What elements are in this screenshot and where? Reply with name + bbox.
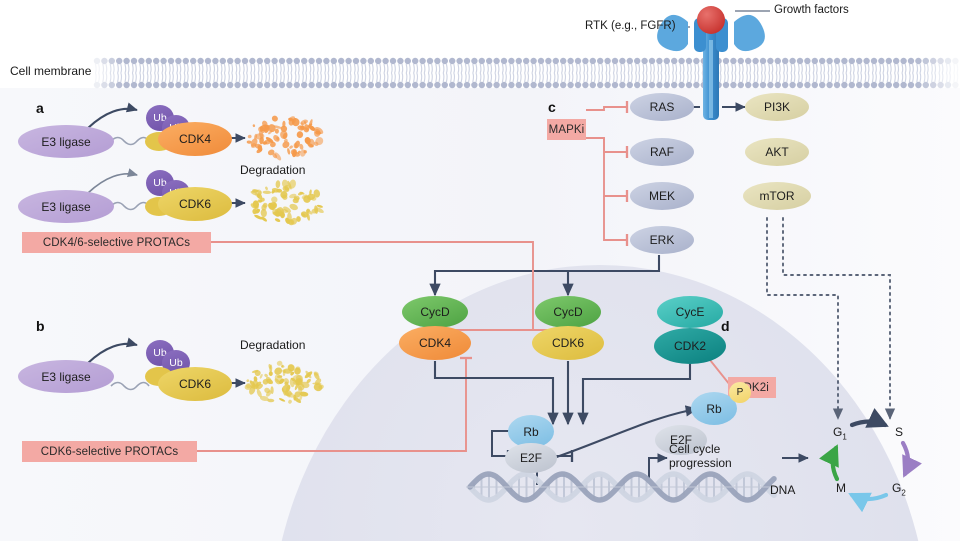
panel-letter-d: d <box>721 318 730 334</box>
node-mek: MEK <box>630 182 694 210</box>
arrow-s-to-g2 <box>903 443 908 474</box>
e3-ligase-a1: E3 ligase <box>18 125 114 158</box>
a-ub-arrow-1 <box>88 109 137 128</box>
erk-to-cycd-cdk4-arrow <box>435 255 659 295</box>
protac6-line <box>197 358 466 451</box>
growth-factors-label: Growth factors <box>774 4 849 16</box>
node-cdk6: CDK6 <box>532 326 604 360</box>
node-erk: ERK <box>630 226 694 254</box>
node-cycd-1: CycD <box>402 296 468 328</box>
phase-m: M <box>836 481 846 495</box>
e3-ligase-b1: E3 ligase <box>18 360 114 393</box>
mapki-label[interactable]: MAPKi <box>547 119 586 140</box>
arrow-g2-to-m <box>852 495 886 499</box>
node-cyce: CycE <box>657 296 723 328</box>
growth-factor-ligand <box>697 6 725 34</box>
arrow-m-to-g1 <box>833 448 837 479</box>
target-cdk4-a1: CDK4 <box>158 122 232 156</box>
cytoplasm-region <box>0 88 960 541</box>
rtk-label: RTK (e.g., FGFR) <box>585 20 676 32</box>
phase-g2: G2 <box>892 481 906 497</box>
figure-canvas: Cell membrane RTK (e.g., FGFR) Growth fa… <box>0 0 960 541</box>
node-cdk4: CDK4 <box>399 326 471 360</box>
arrow-g1-to-s <box>852 422 885 426</box>
cell-membrane-label: Cell membrane <box>10 64 91 78</box>
dna-to-progression-arrow <box>649 458 667 478</box>
protac46-line <box>211 242 533 330</box>
phase-s: S <box>895 425 903 439</box>
degradation-label-a: Degradation <box>240 163 305 177</box>
erk-to-cycd-cdk6-arrow <box>568 271 659 295</box>
mapki-to-erk-line <box>604 196 627 240</box>
nucleus-region <box>270 265 930 541</box>
cdk46-protac-label[interactable]: CDK4/6-selective PROTACs <box>22 232 211 253</box>
dna-label: DNA <box>770 483 795 497</box>
cdk2-to-rb-arrow <box>583 364 690 424</box>
node-akt: AKT <box>745 138 809 166</box>
phase-g1: G1 <box>833 425 847 441</box>
mapki-to-mek-line <box>604 138 627 196</box>
node-e2f-bound: E2F <box>505 443 557 473</box>
node-raf: RAF <box>630 138 694 166</box>
panel-letter-c: c <box>548 99 556 115</box>
degradation-label-b: Degradation <box>240 338 305 352</box>
node-pi3k: PI3K <box>745 93 809 121</box>
target-cdk6-a2: CDK6 <box>158 187 232 221</box>
panel-letter-a: a <box>36 100 44 116</box>
b-ub-arrow <box>88 344 137 363</box>
a-linker-1 <box>111 138 149 145</box>
cdk6-protac-label[interactable]: CDK6-selective PROTACs <box>22 441 197 462</box>
a-linker-2 <box>111 203 149 210</box>
panel-letter-b: b <box>36 318 45 334</box>
target-cdk6-b1: CDK6 <box>158 367 232 401</box>
mtor-to-g1-dashed <box>767 218 838 418</box>
a-ub-arrow-2 <box>88 174 137 193</box>
b-linker <box>111 383 149 390</box>
phosphate-group: P <box>729 382 751 403</box>
mtor-to-s-dashed <box>783 218 890 418</box>
node-ras: RAS <box>630 93 694 121</box>
node-mtor: mTOR <box>743 182 811 210</box>
node-cycd-2: CycD <box>535 296 601 328</box>
mapki-to-ras-line <box>586 107 627 110</box>
cell-cycle-progression-label: Cell cycle progression <box>669 442 732 470</box>
e3-ligase-a2: E3 ligase <box>18 190 114 223</box>
mapki-to-raf-line <box>586 138 627 152</box>
node-cdk2: CDK2 <box>654 328 726 364</box>
